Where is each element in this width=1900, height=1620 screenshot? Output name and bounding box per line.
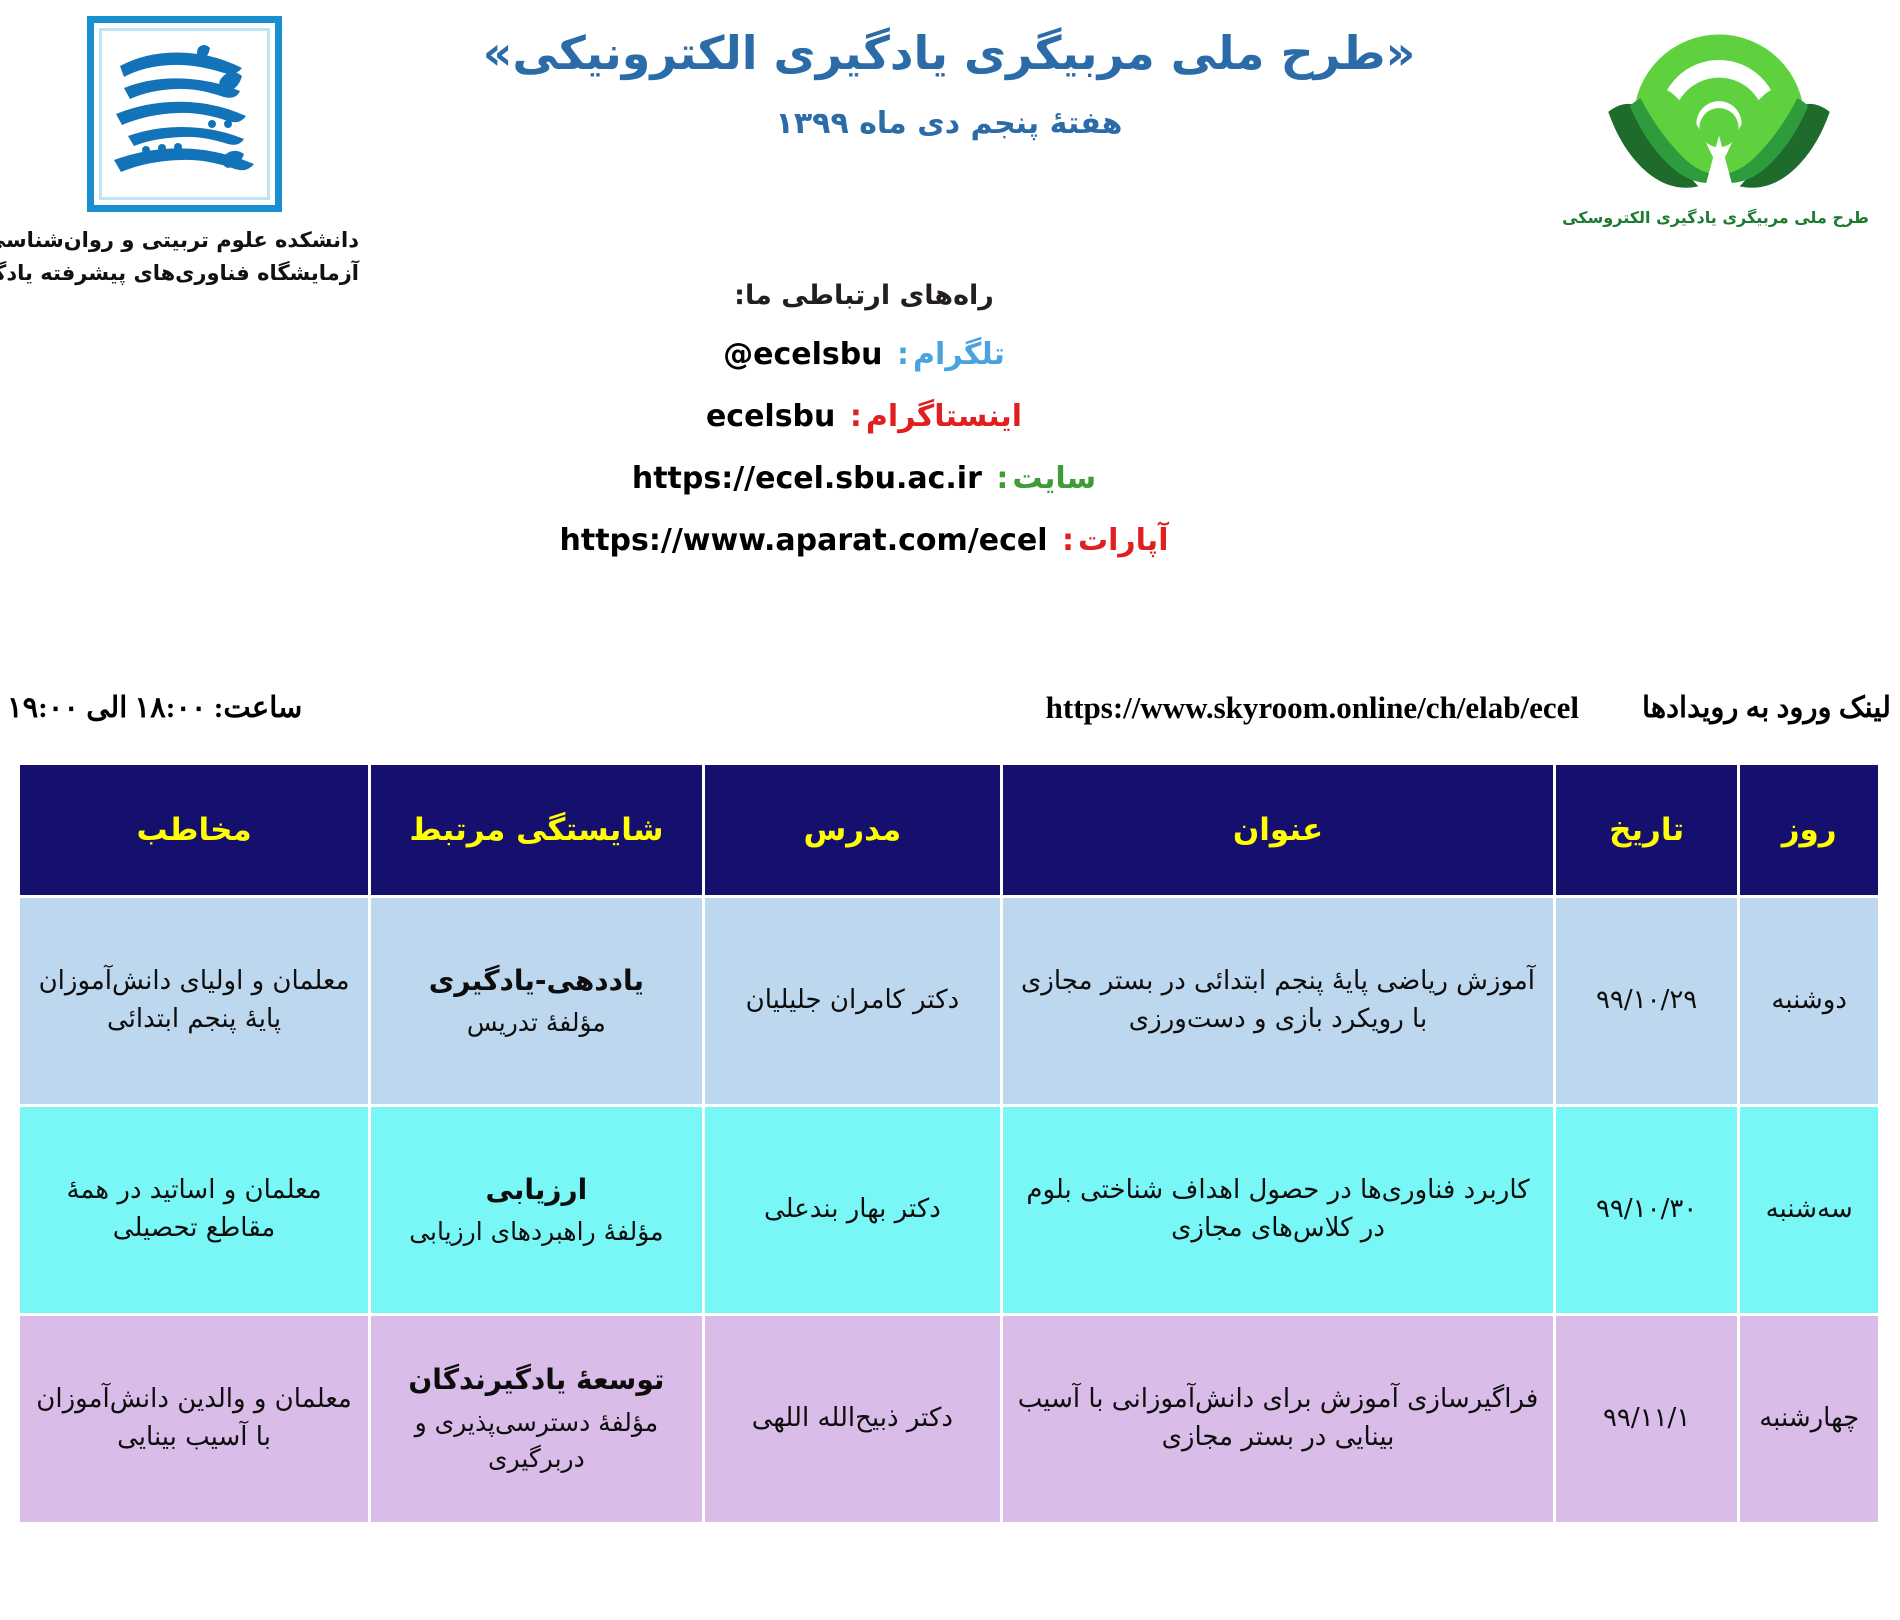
column-header-date: تاریخ [1555, 764, 1739, 897]
cell-title: فراگیرسازی آموزش برای دانش‌آموزانی با آس… [1003, 1315, 1556, 1524]
competency-main: یاددهی-یادگیری [380, 961, 695, 1002]
cell-audience: معلمان و اساتید در همهٔ مقاطع تحصیلی [20, 1106, 371, 1315]
page-title: «طرح ملی مربیگری یادگیری الکترونیکی» [360, 22, 1540, 84]
cell-title: آموزش ریاضی پایهٔ پنجم ابتدائی در بستر م… [1003, 897, 1556, 1106]
poster-header: دانشکده علوم تربیتی و روان‌شناسی آزمایشگ… [0, 0, 1900, 290]
column-header-competency: شایستگی مرتبط [371, 764, 705, 897]
table-row: دوشنبه ۹۹/۱۰/۲۹ آموزش ریاضی پایهٔ پنجم ا… [20, 897, 1881, 1106]
cell-competency: توسعهٔ یادگیرندگان مؤلفهٔ دسترسی‌پذیری و… [371, 1315, 705, 1524]
contact-row-telegram: تلگرام: @ecelsbu [0, 337, 1900, 372]
cell-instructor: دکتر بهار بندعلی [704, 1106, 1002, 1315]
sbu-branding-block: دانشکده علوم تربیتی و روان‌شناسی آزمایشگ… [10, 8, 360, 289]
schedule-table-body: دوشنبه ۹۹/۱۰/۲۹ آموزش ریاضی پایهٔ پنجم ا… [20, 897, 1881, 1524]
contact-sep-aparat: : [1063, 523, 1075, 558]
cell-day: دوشنبه [1740, 897, 1881, 1106]
cell-instructor: دکتر کامران جلیلیان [704, 897, 1002, 1106]
shahid-beheshti-university-logo [88, 16, 283, 212]
contact-label-instagram: اینستاگرام [867, 399, 1023, 434]
ecel-branding-block: طرح ملی مربیگری یادگیری الکتروسکی [1570, 10, 1870, 227]
cell-date: ۹۹/۱۰/۳۰ [1555, 1106, 1739, 1315]
cell-date: ۹۹/۱۱/۱ [1555, 1315, 1739, 1524]
contact-value-telegram[interactable]: @ecelsbu [724, 337, 883, 372]
page-subtitle: هفتهٔ پنجم دی ماه ۱۳۹۹ [360, 106, 1540, 141]
column-header-audience: مخاطب [20, 764, 371, 897]
sbu-caption-line-1: دانشکده علوم تربیتی و روان‌شناسی [10, 224, 360, 257]
contact-row-website: سایت: https://ecel.sbu.ac.ir [0, 461, 1900, 496]
contact-label-aparat: آپارات [1079, 523, 1170, 558]
ecel-logo-caption: طرح ملی مربیگری یادگیری الکتروسکی [1570, 208, 1870, 227]
contact-value-aparat[interactable]: https://www.aparat.com/ecel [561, 523, 1049, 558]
cell-day: چهارشنبه [1740, 1315, 1881, 1524]
contact-sep-telegram: : [898, 337, 910, 372]
events-link-strip: لینک ورود به رویدادها https://www.skyroo… [0, 690, 1900, 750]
cell-audience: معلمان و اولیای دانش‌آموزان پایهٔ پنجم ا… [20, 897, 371, 1106]
contact-value-instagram[interactable]: ecelsbu [707, 399, 836, 434]
competency-main: ارزیابی [380, 1170, 695, 1211]
contact-sep-website: : [997, 461, 1009, 496]
cell-day: سه‌شنبه [1740, 1106, 1881, 1315]
cell-instructor: دکتر ذبیح‌الله اللهی [704, 1315, 1002, 1524]
contact-sep-instagram: : [851, 399, 863, 434]
schedule-table-head: روز تاریخ عنوان مدرس شایستگی مرتبط مخاطب [20, 764, 1881, 897]
schedule-table: روز تاریخ عنوان مدرس شایستگی مرتبط مخاطب… [18, 762, 1882, 1525]
cell-audience: معلمان و والدین دانش‌آموزان با آسیب بینا… [20, 1315, 371, 1524]
contact-row-aparat: آپارات: https://www.aparat.com/ecel [0, 523, 1900, 558]
cell-competency: یاددهی-یادگیری مؤلفهٔ تدریس [371, 897, 705, 1106]
events-link-label: لینک ورود به رویدادها [1643, 690, 1892, 725]
table-header-row: روز تاریخ عنوان مدرس شایستگی مرتبط مخاطب [20, 764, 1881, 897]
cell-title: کاربرد فناوری‌ها در حصول اهداف شناختی بل… [1003, 1106, 1556, 1315]
cell-date: ۹۹/۱۰/۲۹ [1555, 897, 1739, 1106]
events-link-url[interactable]: https://www.skyroom.online/ch/elab/ecel [1047, 690, 1580, 726]
competency-sub: مؤلفهٔ تدریس [380, 1005, 695, 1041]
schedule-table-wrapper: روز تاریخ عنوان مدرس شایستگی مرتبط مخاطب… [18, 762, 1882, 1525]
competency-sub: مؤلفهٔ راهبردهای ارزیابی [380, 1214, 695, 1250]
contact-value-website[interactable]: https://ecel.sbu.ac.ir [633, 461, 983, 496]
contact-heading: راه‌های ارتباطی ما: [0, 280, 1900, 311]
table-row: چهارشنبه ۹۹/۱۱/۱ فراگیرسازی آموزش برای د… [20, 1315, 1881, 1524]
column-header-day: روز [1740, 764, 1881, 897]
column-header-instructor: مدرس [704, 764, 1002, 897]
table-row: سه‌شنبه ۹۹/۱۰/۳۰ کاربرد فناوری‌ها در حصو… [20, 1106, 1881, 1315]
contact-block: راه‌های ارتباطی ما: تلگرام: @ecelsbu این… [0, 280, 1900, 585]
contact-label-website: سایت [1013, 461, 1097, 496]
ecel-wifi-hands-logo [1595, 10, 1845, 206]
column-header-title: عنوان [1003, 764, 1556, 897]
title-block: «طرح ملی مربیگری یادگیری الکترونیکی» هفت… [360, 22, 1540, 141]
competency-main: توسعهٔ یادگیرندگان [380, 1360, 695, 1401]
cell-competency: ارزیابی مؤلفهٔ راهبردهای ارزیابی [371, 1106, 705, 1315]
competency-sub: مؤلفهٔ دسترسی‌پذیری و دربرگیری [380, 1405, 695, 1478]
contact-row-instagram: اینستاگرام: ecelsbu [0, 399, 1900, 434]
contact-label-telegram: تلگرام [914, 337, 1006, 372]
session-time-label: ساعت: ۱۸:۰۰ الی ۱۹:۰۰ [8, 690, 303, 725]
sbu-logo-inner-frame [100, 28, 271, 200]
